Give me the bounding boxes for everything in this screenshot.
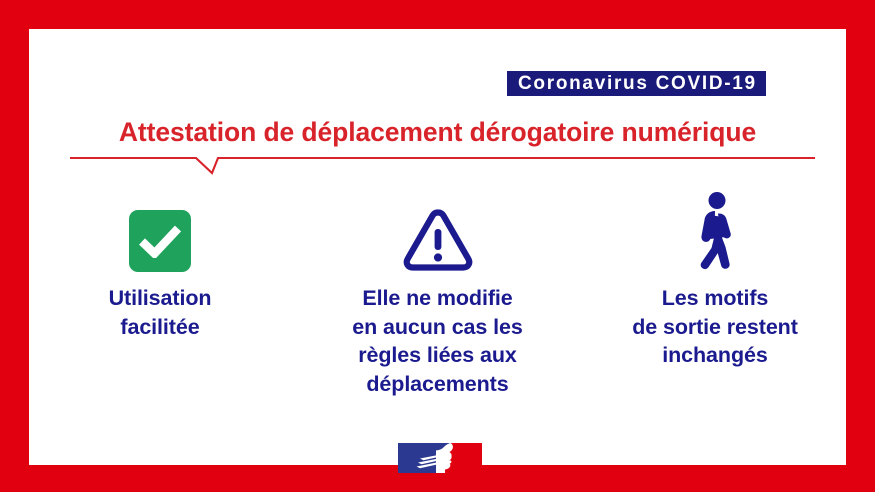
feature-text-line: règles liées aux	[352, 341, 522, 370]
page-title: Attestation de déplacement dérogatoire n…	[29, 117, 846, 148]
feature-icon-wrap	[685, 192, 745, 272]
feature-text-line: en aucun cas les	[352, 313, 522, 342]
feature-text-line: de sortie restent	[632, 313, 798, 342]
marianne-french-republic-logo	[398, 443, 482, 473]
feature-text-line: inchangés	[632, 341, 798, 370]
title-underline-notch	[70, 155, 815, 175]
feature-text-line: Utilisation	[109, 284, 212, 313]
walking-person-icon	[685, 192, 745, 272]
feature-icon-wrap	[129, 192, 191, 272]
feature-text-line: Elle ne modifie	[352, 284, 522, 313]
warning-triangle-icon	[402, 206, 474, 272]
feature-text-motifs: Les motifs de sortie restent inchangés	[632, 284, 798, 370]
feature-text-line: déplacements	[352, 370, 522, 399]
white-content-card: Coronavirus COVID-19 Attestation de dépl…	[29, 29, 846, 465]
feature-column-regles: Elle ne modifie en aucun cas les règles …	[307, 192, 569, 398]
feature-text-line: Les motifs	[632, 284, 798, 313]
covid-badge: Coronavirus COVID-19	[507, 71, 766, 96]
feature-icon-wrap	[402, 192, 474, 272]
feature-text-line: facilitée	[109, 313, 212, 342]
feature-column-motifs: Les motifs de sortie restent inchangés	[584, 192, 846, 370]
check-mark-icon	[129, 210, 191, 272]
feature-column-utilisation: Utilisation facilitée	[29, 192, 291, 341]
feature-columns: Utilisation facilitée Elle ne modifie en…	[29, 192, 846, 422]
feature-text-utilisation: Utilisation facilitée	[109, 284, 212, 341]
poster-root: Coronavirus COVID-19 Attestation de dépl…	[0, 0, 875, 492]
feature-text-regles: Elle ne modifie en aucun cas les règles …	[352, 284, 522, 398]
